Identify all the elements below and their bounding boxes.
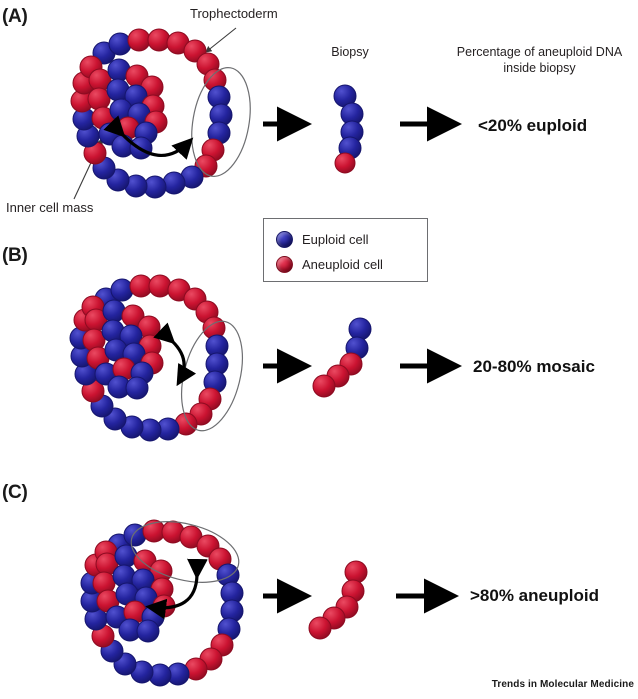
panel-c-biopsy-cells (309, 561, 367, 639)
diagram-canvas (0, 0, 638, 699)
panel-a-blastocyst (71, 29, 258, 198)
panel-b-blastocyst (70, 275, 253, 441)
leader-trophectoderm (206, 28, 236, 52)
panel-b-biopsy-cells (313, 318, 371, 397)
figure-root: (A) (B) (C) Biopsy Percentage of aneuplo… (0, 0, 638, 699)
panel-a-biopsy-cells (334, 85, 363, 173)
panel-c-blastocyst (81, 512, 245, 686)
panel-b-cavity-arrow (172, 341, 184, 382)
